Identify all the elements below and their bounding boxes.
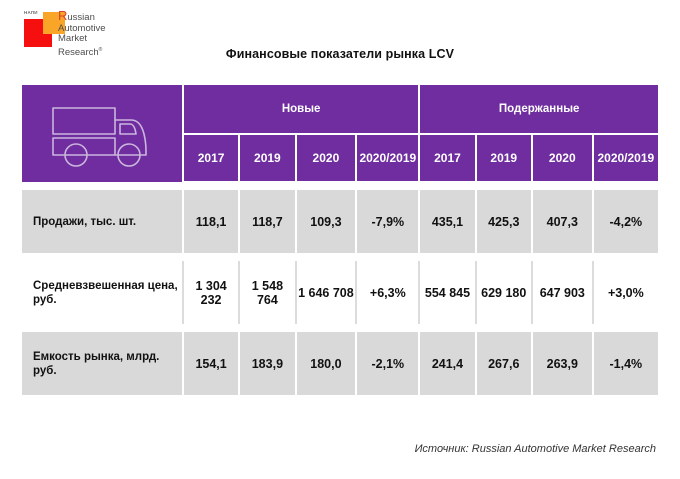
cell-price-new-change: +6,3%	[356, 261, 419, 324]
cell-volume-used-2017: 241,4	[419, 332, 475, 395]
column-header-used-change: 2020/2019	[593, 134, 658, 182]
page-title: Финансовые показатели рынка LCV	[0, 47, 680, 61]
group-header-used: Подержанные	[419, 85, 658, 134]
lcv-truck-icon-graphic	[47, 98, 157, 170]
logo-initial-r: R	[58, 8, 67, 23]
cell-volume-new-2019: 183,9	[239, 332, 295, 395]
financial-indicators-table: Новые Подержанные 2017 2019 2020 2020/20…	[22, 85, 658, 395]
cell-volume-used-2019: 267,6	[476, 332, 532, 395]
row-label-market-volume: Емкость рынка, млрд. руб.	[22, 332, 183, 395]
cell-volume-used-change: -1,4%	[593, 332, 658, 395]
table-header-group-row: Новые Подержанные	[22, 85, 658, 134]
cell-sales-used-change: -4,2%	[593, 190, 658, 253]
column-header-new-change: 2020/2019	[356, 134, 419, 182]
logo-line-1: ussian	[67, 12, 94, 23]
column-header-used-2020: 2020	[532, 134, 593, 182]
table-row: Средневзвешенная цена, руб. 1 304 232 1 …	[22, 261, 658, 324]
column-header-new-2019: 2019	[239, 134, 295, 182]
row-gap	[22, 253, 658, 261]
cell-price-new-2019: 1 548 764	[239, 261, 295, 324]
cell-price-new-2020: 1 646 708	[296, 261, 357, 324]
table-row: Емкость рынка, млрд. руб. 154,1 183,9 18…	[22, 332, 658, 395]
cell-price-used-2017: 554 845	[419, 261, 475, 324]
cell-sales-used-2020: 407,3	[532, 190, 593, 253]
lcv-truck-icon	[22, 85, 183, 182]
cell-price-used-change: +3,0%	[593, 261, 658, 324]
cell-volume-new-2020: 180,0	[296, 332, 357, 395]
header-body-spacer	[22, 182, 658, 190]
logo-napi-label: НАПИ	[24, 10, 38, 15]
financial-indicators-table-wrapper: Новые Подержанные 2017 2019 2020 2020/20…	[22, 85, 658, 395]
column-header-new-2017: 2017	[183, 134, 239, 182]
cell-price-new-2017: 1 304 232	[183, 261, 239, 324]
row-gap	[22, 324, 658, 332]
cell-price-used-2020: 647 903	[532, 261, 593, 324]
source-note: Источник: Russian Automotive Market Rese…	[415, 443, 656, 455]
cell-price-used-2019: 629 180	[476, 261, 532, 324]
group-header-new: Новые	[183, 85, 419, 134]
cell-sales-new-change: -7,9%	[356, 190, 419, 253]
logo-line-3: Market	[58, 34, 106, 45]
cell-sales-new-2020: 109,3	[296, 190, 357, 253]
column-header-used-2017: 2017	[419, 134, 475, 182]
column-header-new-2020: 2020	[296, 134, 357, 182]
row-label-avg-price: Средневзвешенная цена, руб.	[22, 261, 183, 324]
cell-volume-new-2017: 154,1	[183, 332, 239, 395]
cell-volume-used-2020: 263,9	[532, 332, 593, 395]
table-row: Продажи, тыс. шт. 118,1 118,7 109,3 -7,9…	[22, 190, 658, 253]
cell-sales-used-2019: 425,3	[476, 190, 532, 253]
cell-sales-new-2019: 118,7	[239, 190, 295, 253]
cell-volume-new-change: -2,1%	[356, 332, 419, 395]
cell-sales-used-2017: 435,1	[419, 190, 475, 253]
row-label-sales: Продажи, тыс. шт.	[22, 190, 183, 253]
cell-sales-new-2017: 118,1	[183, 190, 239, 253]
column-header-used-2019: 2019	[476, 134, 532, 182]
